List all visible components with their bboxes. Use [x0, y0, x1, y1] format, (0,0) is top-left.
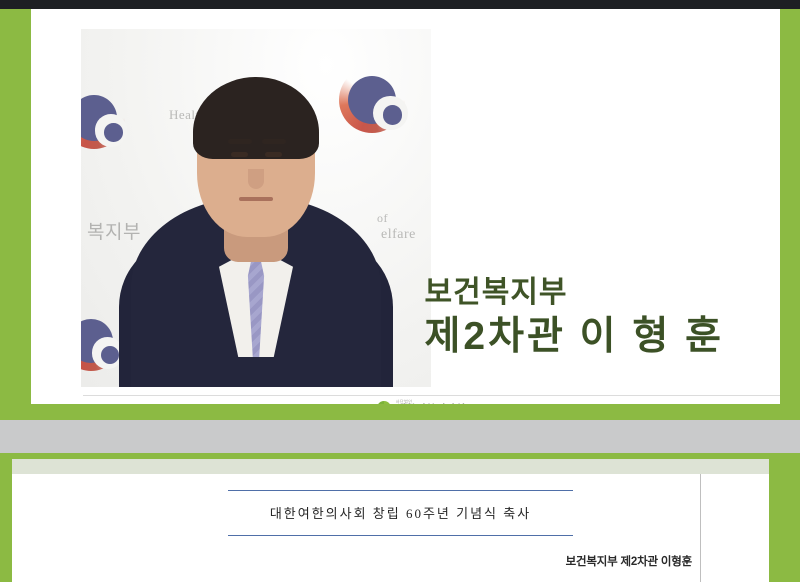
- slide-title-line2: 제2차관 이 형 훈: [425, 313, 724, 362]
- slide-title-line1: 보건복지부: [425, 275, 724, 311]
- slide-1-page: Health 복지부 of elfare: [31, 9, 780, 420]
- document-title-block: 대한여한의사회 창립 60주년 기념식 축사: [228, 490, 573, 536]
- slide-2[interactable]: 대한여한의사회 창립 60주년 기념식 축사 보건복지부 제2차관 이형훈: [0, 453, 800, 582]
- slide-1-bottom-border: [0, 404, 800, 420]
- document-byline: 보건복지부 제2차관 이형훈: [0, 553, 700, 569]
- slide-gap: [0, 420, 800, 453]
- document-rule-bottom: [228, 535, 573, 536]
- person-figure: [81, 29, 431, 387]
- slide-1[interactable]: Health 복지부 of elfare: [0, 9, 800, 420]
- footer-divider: [83, 395, 781, 396]
- presentation-viewer[interactable]: Health 복지부 of elfare: [0, 0, 800, 582]
- slide-2-header-band: [12, 459, 769, 474]
- slide-1-right-border: [780, 9, 800, 420]
- top-dark-bar: [0, 0, 800, 9]
- slide-title-block: 보건복지부 제2차관 이 형 훈: [425, 275, 724, 362]
- document-margin-rule: [700, 474, 701, 582]
- document-title: 대한여한의사회 창립 60주년 기념식 축사: [228, 491, 573, 535]
- portrait-photo: Health 복지부 of elfare: [81, 29, 431, 387]
